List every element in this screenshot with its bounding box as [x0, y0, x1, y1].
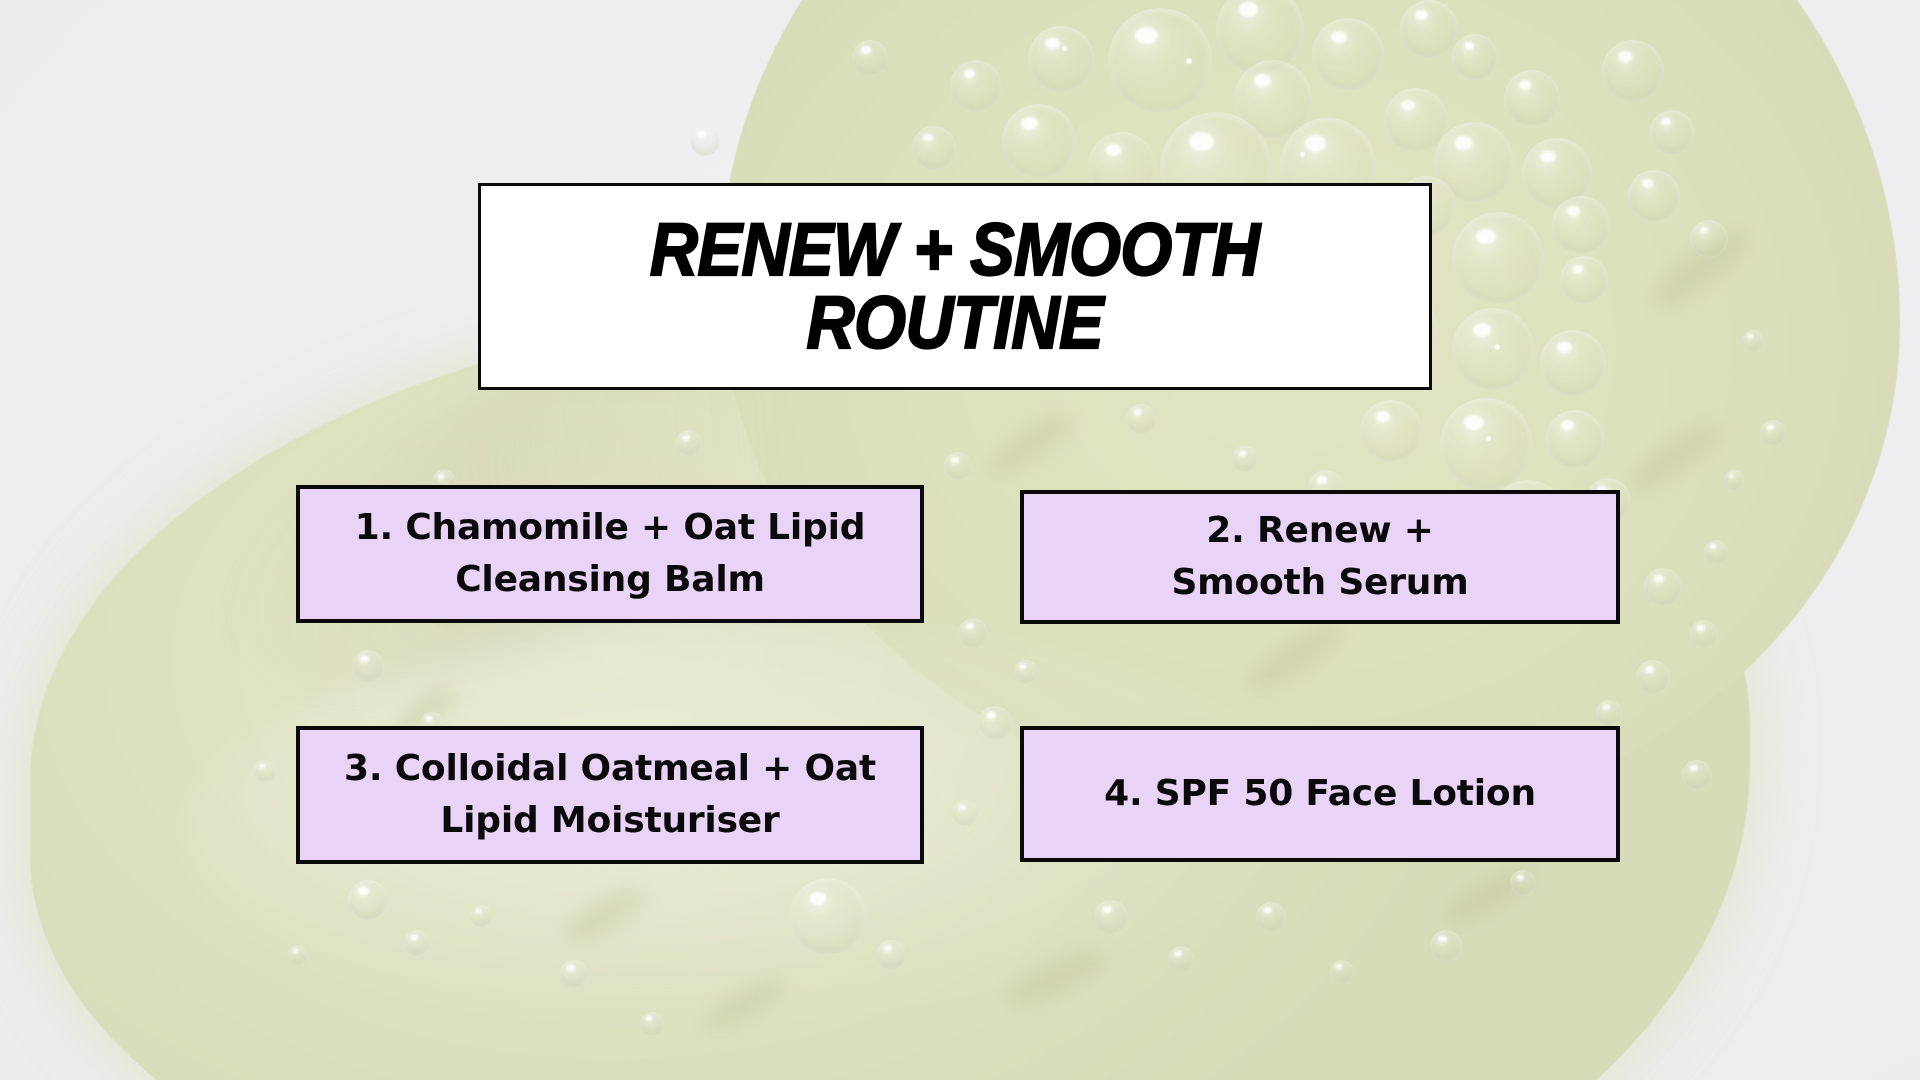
gel-bubble: [1690, 220, 1728, 258]
routine-step-box-1[interactable]: 1. Chamomile + Oat Lipid Cleansing Balm: [296, 485, 924, 623]
page-title: RENEW + SMOOTH ROUTINE: [650, 214, 1260, 359]
gel-bubble: [1440, 398, 1532, 490]
gel-bubble: [1028, 26, 1094, 92]
gel-bubble: [1636, 660, 1670, 694]
bubble-sparkle: [1062, 46, 1067, 51]
bubble-sparkle: [1186, 58, 1192, 64]
gel-bubble: [852, 40, 888, 76]
bubble-sparkle: [1300, 152, 1305, 157]
gel-bubble: [958, 618, 988, 648]
gel-bubble: [470, 905, 492, 927]
gel-bubble: [404, 930, 430, 956]
gel-bubble: [1690, 620, 1718, 648]
title-card: RENEW + SMOOTH ROUTINE: [478, 183, 1432, 390]
gel-bubble: [1628, 170, 1680, 222]
bubble-sparkle: [1486, 436, 1491, 441]
bubble-sparkle: [1494, 344, 1500, 350]
routine-step-label-2: 2. Renew + Smooth Serum: [1157, 505, 1482, 609]
gel-bubble: [876, 940, 906, 970]
gel-bubble: [1510, 870, 1536, 896]
gel-bubble: [1400, 0, 1458, 58]
gel-bubble: [1682, 760, 1712, 790]
gel-bubble: [1540, 330, 1606, 396]
gel-bubble: [1108, 8, 1212, 112]
gel-bubble: [1560, 256, 1608, 304]
gel-bubble: [1760, 420, 1786, 446]
gel-bubble: [1452, 212, 1544, 304]
gel-bubble: [1256, 902, 1286, 932]
gel-bubble: [950, 60, 1002, 112]
gel-bubble: [1644, 568, 1682, 606]
gel-bubble: [1312, 18, 1384, 90]
gel-bubble: [952, 800, 978, 826]
gel-bubble: [1650, 110, 1694, 154]
gel-bubble: [1452, 34, 1498, 80]
gel-bubble: [1330, 960, 1354, 984]
gel-bubble: [676, 430, 702, 456]
routine-step-box-4[interactable]: 4. SPF 50 Face Lotion: [1020, 726, 1620, 862]
gel-bubble: [352, 650, 384, 682]
gel-bubble: [1002, 104, 1076, 178]
background-photo: [0, 0, 1920, 1080]
gel-bubble: [1724, 470, 1744, 490]
gel-bubble: [560, 960, 588, 988]
routine-step-box-2[interactable]: 2. Renew + Smooth Serum: [1020, 490, 1620, 624]
gel-bubble: [1742, 330, 1764, 352]
gel-bubble: [1546, 410, 1604, 468]
gel-bubble: [1014, 660, 1038, 684]
gel-bubble: [1094, 900, 1128, 934]
gel-bubble: [690, 126, 720, 156]
gel-bubble: [1504, 70, 1560, 126]
gel-bubble: [944, 452, 972, 480]
gel-bubble: [288, 945, 308, 965]
gel-bubble: [1602, 40, 1664, 102]
routine-step-label-3: 3. Colloidal Oatmeal + Oat Lipid Moistur…: [330, 743, 890, 847]
gel-bubble: [912, 126, 956, 170]
gel-bubble: [1452, 308, 1534, 390]
routine-step-label-4: 4. SPF 50 Face Lotion: [1090, 768, 1550, 820]
gel-bubble: [1704, 540, 1728, 564]
gel-bubble: [1168, 946, 1194, 972]
gel-bubble: [1430, 930, 1462, 962]
gel-bubble: [1232, 446, 1258, 472]
gel-bubble: [640, 1012, 664, 1036]
routine-step-label-1: 1. Chamomile + Oat Lipid Cleansing Balm: [341, 502, 880, 606]
gel-bubble: [1126, 404, 1156, 434]
gel-bubble: [1360, 400, 1422, 462]
gel-bubble: [1552, 196, 1610, 254]
gel-bubble: [978, 706, 1012, 740]
routine-step-box-3[interactable]: 3. Colloidal Oatmeal + Oat Lipid Moistur…: [296, 726, 924, 864]
gel-bubble: [1596, 700, 1622, 726]
gel-bubble: [348, 880, 388, 920]
gel-bubble: [254, 760, 276, 782]
gel-bubble: [790, 878, 866, 954]
